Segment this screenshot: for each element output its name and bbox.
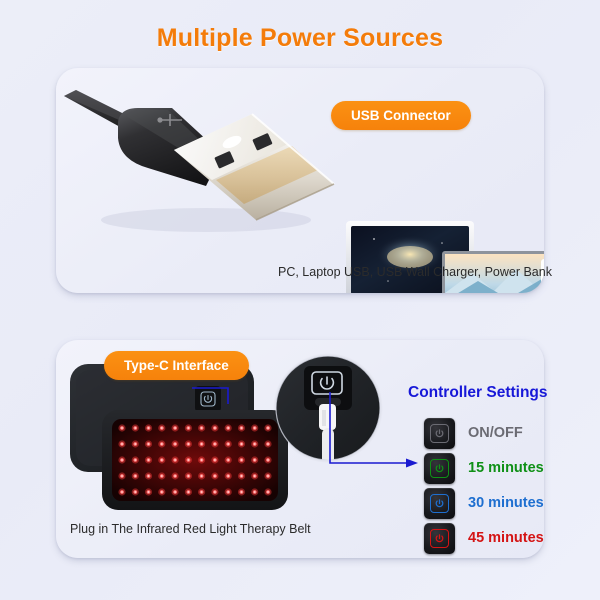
controller-power-button[interactable] — [424, 488, 455, 519]
usb-sources-caption: PC, Laptop USB, USB Wall Charger, Power … — [278, 265, 552, 279]
controller-power-button[interactable] — [424, 453, 455, 484]
power-icon — [430, 424, 449, 443]
usb-a-connector-illustration — [56, 68, 346, 248]
usb-connector-panel — [56, 68, 544, 293]
type-c-interface-badge: Type-C Interface — [104, 351, 249, 380]
type-c-zoom-callout — [273, 353, 384, 472]
controller-setting-row[interactable]: 30 minutes — [424, 486, 574, 520]
controller-settings-list: ON/OFF15 minutes30 minutes45 minutes — [424, 416, 574, 556]
controller-setting-row[interactable]: ON/OFF — [424, 416, 574, 450]
usb-connector-badge: USB Connector — [331, 101, 471, 130]
controller-setting-label: 30 minutes — [468, 495, 544, 511]
controller-setting-label: 45 minutes — [468, 530, 544, 546]
power-icon — [430, 459, 449, 478]
belt-plug-caption: Plug in The Infrared Red Light Therapy B… — [70, 522, 311, 536]
controller-setting-label: ON/OFF — [468, 425, 523, 441]
controller-setting-label: 15 minutes — [468, 460, 544, 476]
controller-setting-row[interactable]: 15 minutes — [424, 451, 574, 485]
compatible-devices-illustration — [338, 211, 544, 293]
controller-setting-row[interactable]: 45 minutes — [424, 521, 574, 555]
controller-power-button[interactable] — [424, 523, 455, 554]
power-icon — [430, 494, 449, 513]
power-icon — [430, 529, 449, 548]
controller-power-button[interactable] — [424, 418, 455, 449]
controller-settings-heading: Controller Settings — [408, 384, 548, 402]
page-title: Multiple Power Sources — [0, 24, 600, 53]
belt-led-pad — [102, 410, 288, 510]
